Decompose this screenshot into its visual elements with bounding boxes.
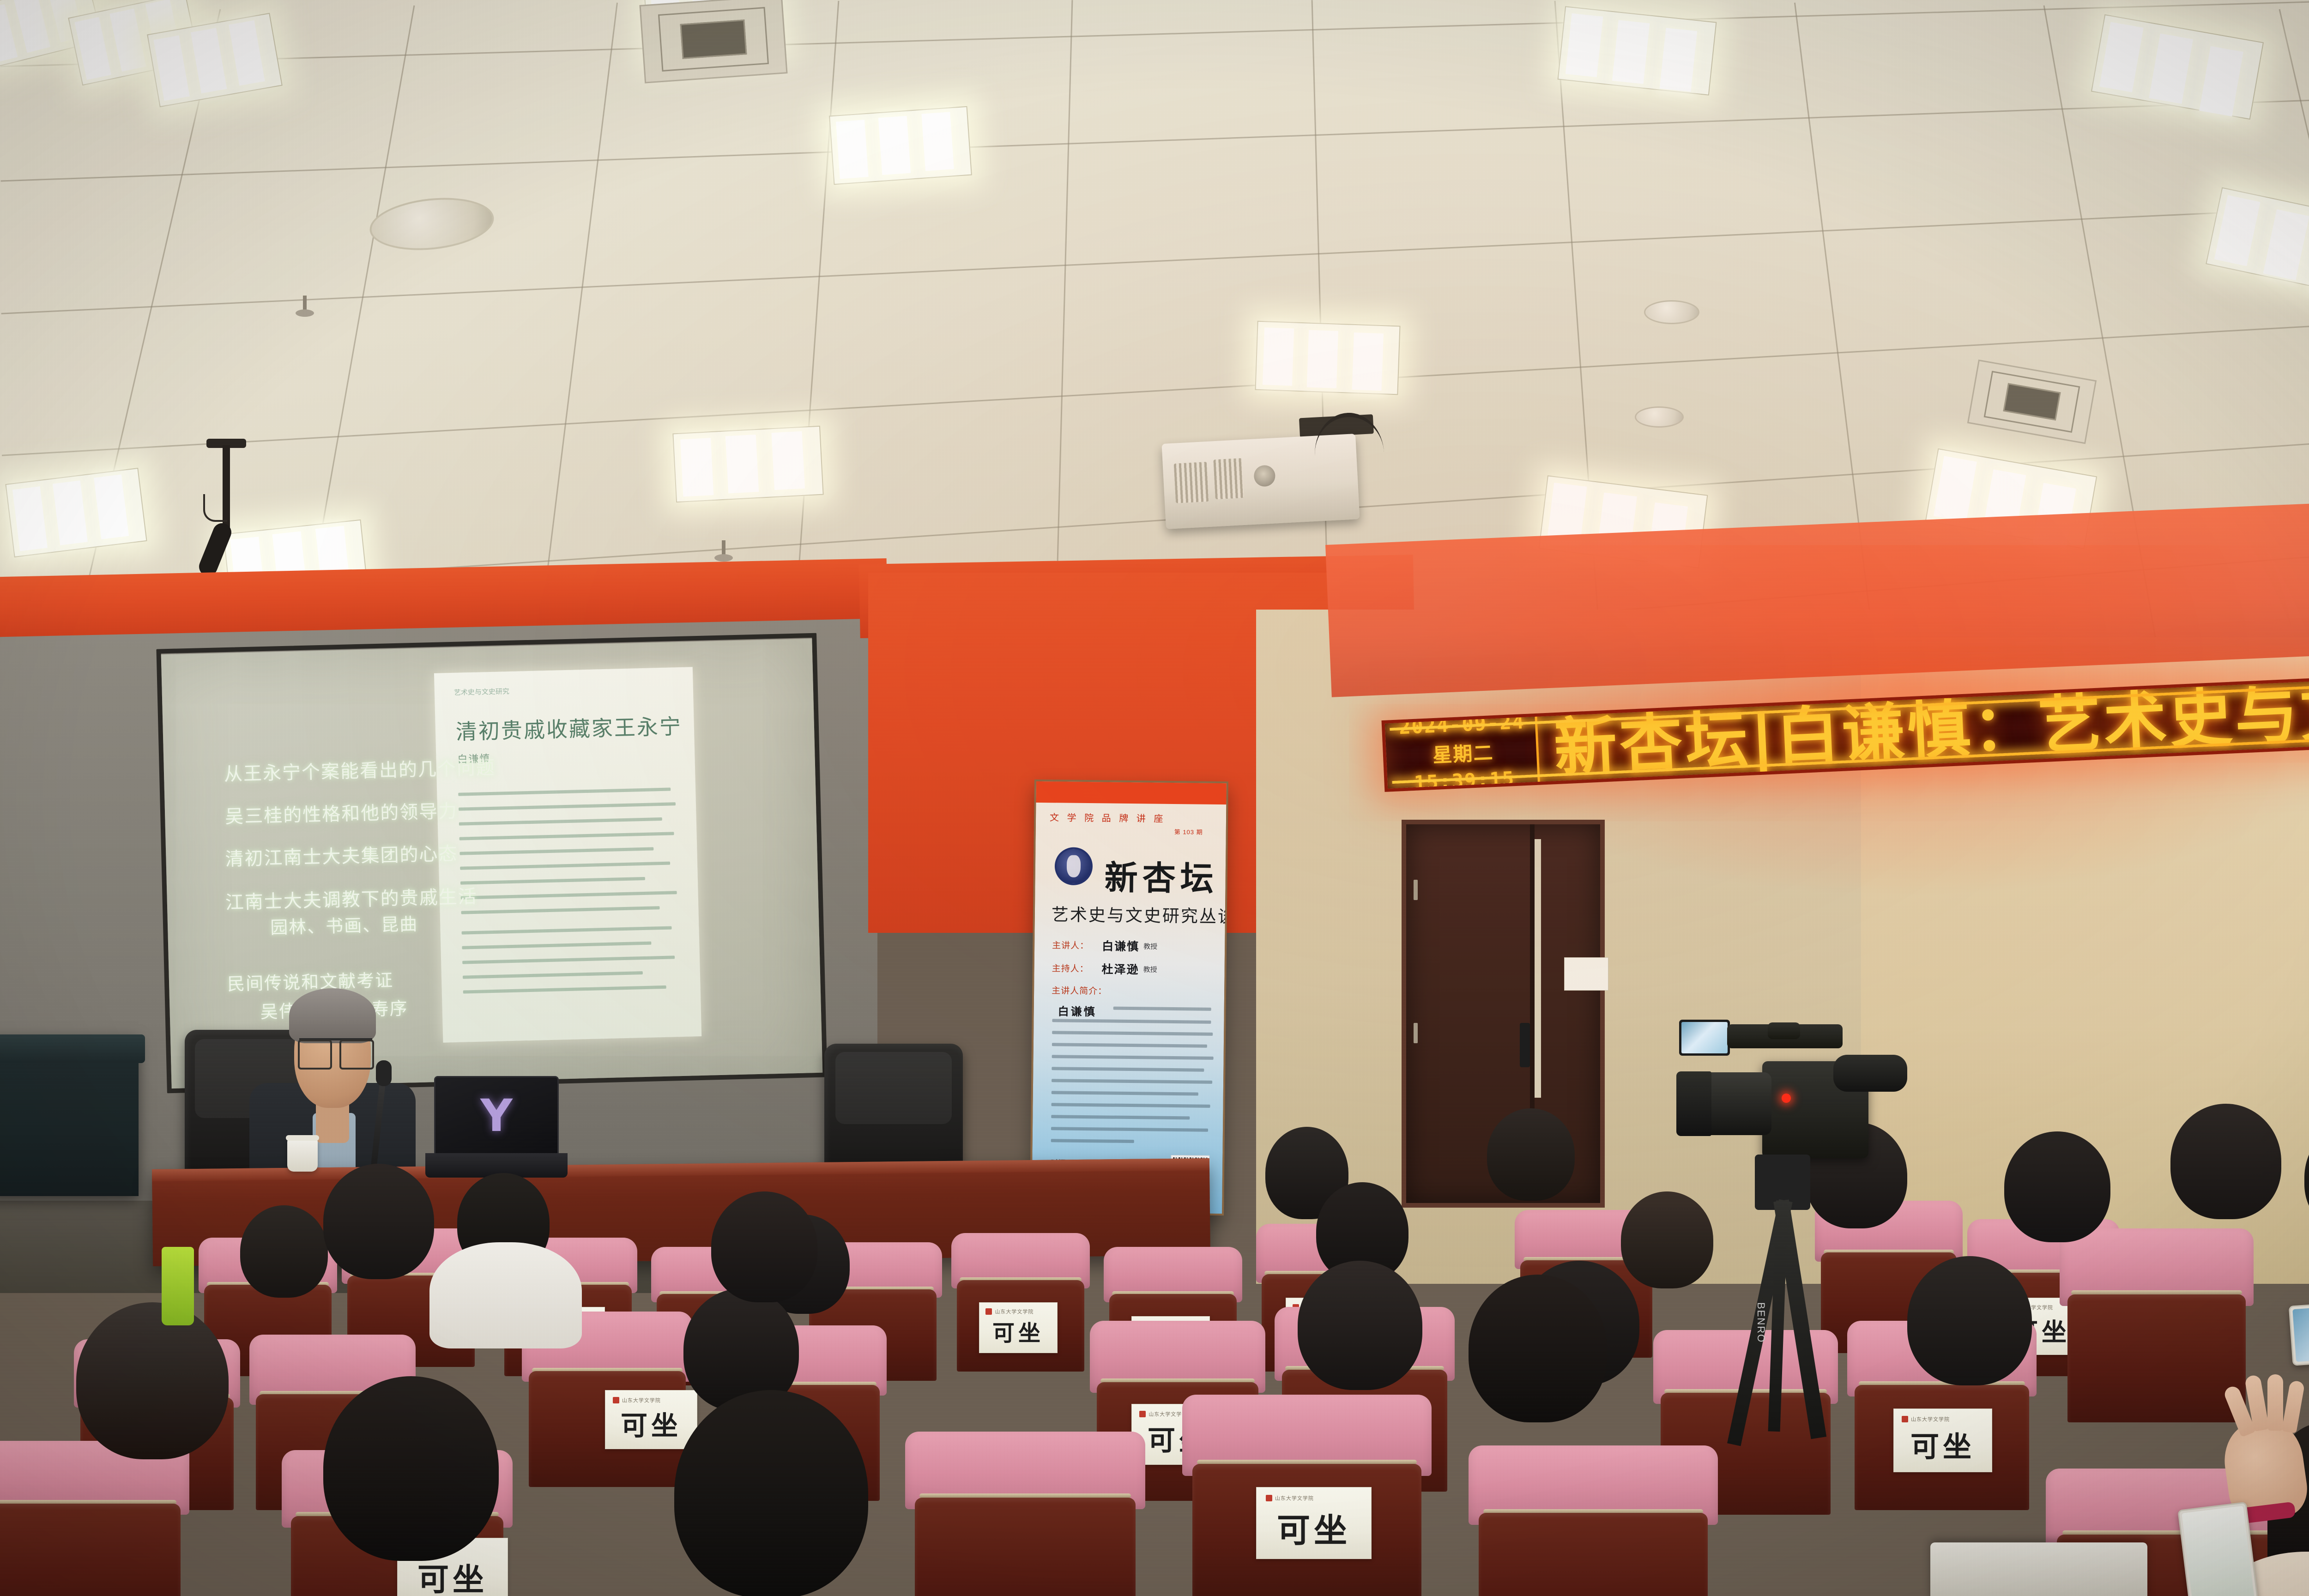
university-emblem-icon [1055, 847, 1093, 885]
ceiling-light-troffer [1558, 6, 1717, 96]
audience-head [1298, 1261, 1422, 1390]
smartphone[interactable] [2177, 1502, 2260, 1596]
poster-host-label: 主持人： [1052, 961, 1089, 974]
green-bottle [162, 1247, 194, 1325]
auditorium-seat[interactable]: 山东大学文学院 可坐 [951, 1233, 1090, 1372]
audience-head-foreground [674, 1390, 868, 1596]
seal-icon [1266, 1495, 1272, 1501]
poster-host-title: 教授 [1143, 964, 1157, 974]
door-notice-paper [1564, 957, 1608, 991]
ceiling-light-troffer [1255, 321, 1400, 395]
poster-speaker-name: 白谦慎 [1102, 937, 1139, 954]
audience-head [2170, 1104, 2281, 1219]
poster-bio-label: 主讲人简介： [1052, 984, 1107, 997]
audience-head [240, 1205, 328, 1298]
slide-doc-header: 艺术史与文史研究 [454, 686, 509, 697]
eyeglasses-icon [299, 1038, 372, 1058]
attendee-tablet[interactable] [1930, 1542, 2147, 1596]
audience-head-foreground [711, 1191, 817, 1302]
presenter-laptop[interactable]: Y [434, 1076, 559, 1178]
poster-bio-name: 白谦慎 [1058, 1002, 1097, 1019]
auditorium-seat[interactable] [905, 1432, 1145, 1596]
seal-icon [613, 1397, 619, 1403]
audience-head-foreground [76, 1302, 229, 1459]
laptop-logo: Y [480, 1090, 513, 1142]
slide-line-3: 清初江南士大夫集团的心态 [225, 839, 458, 871]
audience-head [1907, 1256, 2032, 1385]
ceiling-projector [1161, 434, 1360, 529]
seal-icon [985, 1308, 992, 1315]
recording-indicator-icon [1782, 1094, 1791, 1103]
seat-card-org: 山东大学文学院 [1911, 1415, 1950, 1423]
video-camera-rig: BENRO [1658, 1007, 1898, 1515]
seat-card-org: 山东大学文学院 [1275, 1494, 1314, 1502]
fire-sprinkler [291, 296, 319, 323]
ceiling-light-troffer [2091, 14, 2264, 120]
audience-head-foreground [323, 1376, 499, 1561]
smoke-detector [1635, 406, 1684, 428]
camera-shotgun-microphone [1833, 1055, 1907, 1092]
seal-icon [1902, 1416, 1908, 1422]
ceiling-light-troffer [672, 426, 823, 503]
seat-reserved-card: 山东大学文学院 可坐 [605, 1390, 697, 1449]
camera-lcd-screen [1679, 1020, 1730, 1056]
presenter-hair [289, 988, 375, 1043]
poster-issue-line: 第 103 期 [1174, 827, 1203, 836]
door-handle[interactable] [1520, 1023, 1530, 1067]
foreground-attendee [2189, 1367, 2309, 1596]
poster-series-title: 新杏坛 [1104, 850, 1218, 900]
seat-reserved-card: 山东大学文学院 可坐 [1893, 1409, 1992, 1472]
poster-subtitle: 艺术史与文史研究丛谈 [1052, 901, 1228, 927]
seat-card-label: 可坐 [1910, 1423, 1975, 1465]
audience-head-foreground [1469, 1275, 1607, 1422]
audience-head [2004, 1131, 2110, 1242]
seat-reserved-card: 山东大学文学院 可坐 [979, 1302, 1058, 1353]
door-hinge [1414, 880, 1418, 900]
seat-card-org: 山东大学文学院 [622, 1396, 661, 1404]
door-hinge [1414, 1023, 1418, 1043]
ceiling-light-troffer [2206, 187, 2309, 297]
hvac-air-diffuser [639, 0, 787, 84]
audience-shoulders [429, 1242, 582, 1348]
poster-speaker-label: 主讲人： [1052, 938, 1089, 951]
audience-head [323, 1164, 434, 1279]
hvac-air-diffuser [1967, 359, 2097, 444]
poster-speaker-title: 教授 [1143, 941, 1157, 951]
laptop-lid: Y [434, 1076, 559, 1155]
slide-line-5: 园林、书画、昆曲 [270, 910, 418, 939]
auditorium-seat[interactable]: 山东大学文学院 可坐 [1182, 1395, 1432, 1596]
tripod-brand-label: BENRO [1755, 1302, 1767, 1343]
led-weekday: 星期二 [1432, 737, 1494, 768]
poster-top-red-band [1036, 781, 1226, 804]
lectern [0, 1034, 139, 1196]
smartphone[interactable] [2289, 1299, 2309, 1366]
ceiling-light-troffer [829, 106, 972, 185]
poster-brand-line: 文 学 院 品 牌 讲 座 [1050, 810, 1166, 825]
seat-reserved-card: 山东大学文学院 可坐 [1256, 1487, 1372, 1559]
poster-host-name: 杜泽逊 [1101, 960, 1139, 977]
camera-mic-mount [1768, 1022, 1800, 1039]
slide-doc-title: 清初贵戚收藏家王永宁 [455, 710, 682, 746]
seat-card-org: 山东大学文学院 [995, 1308, 1034, 1315]
seat-card-label: 可坐 [1277, 1503, 1351, 1552]
auditorium-seat[interactable] [0, 1441, 189, 1596]
door-gap [1535, 839, 1541, 1098]
smoke-detector [1644, 300, 1699, 324]
paper-cup [287, 1138, 318, 1172]
seal-icon [1139, 1411, 1146, 1417]
ceiling-light-troffer [5, 468, 147, 557]
seat-card-label: 可坐 [992, 1315, 1044, 1347]
slide-document-page: 艺术史与文史研究 清初贵戚收藏家王永宁 白谦慎 [434, 667, 701, 1042]
ceiling-speaker [367, 192, 496, 256]
led-datetime-block: 2024-09-24 星期二 15:39:15 [1384, 710, 1540, 792]
audience-head [1487, 1108, 1575, 1201]
seat-card-label: 可坐 [621, 1404, 682, 1443]
lecture-hall-photo: 艺术史与文史研究 清初贵戚收藏家王永宁 白谦慎 从王永宁个案能看出的几个问题 吴… [0, 0, 2309, 1596]
seat-card-org: 山东大学文学院 [1148, 1410, 1187, 1418]
camera-lens-hood [1676, 1071, 1711, 1136]
desk-microphone [356, 1062, 402, 1178]
event-poster: 文 学 院 品 牌 讲 座 第 103 期 新杏坛 艺术史与文史研究丛谈 主讲人… [1030, 780, 1228, 1215]
slide-line-2: 吴三桂的性格和他的领导力 [225, 796, 458, 828]
